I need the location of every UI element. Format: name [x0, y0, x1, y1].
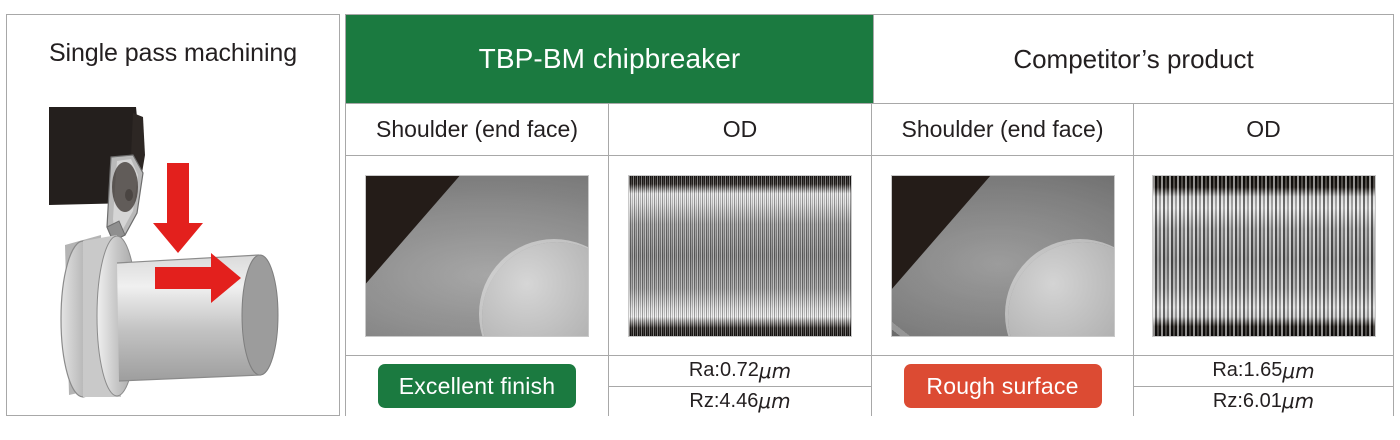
photo-cell-competitor-shoulder [872, 156, 1134, 355]
measurement-value: 4.46 [719, 390, 758, 413]
measurement-symbol: Rz [1213, 390, 1237, 413]
od-fine-turned-surface-micrograph [628, 175, 852, 337]
measurement-unit: μm [759, 359, 791, 383]
column-header-competitor-od: OD [1134, 104, 1393, 155]
column-header-tbp-shoulder: Shoulder (end face) [346, 104, 609, 155]
result-cell-tbp-od: Ra : 0.72 μm Rz : 4.46 μm [609, 356, 872, 416]
photo-cell-competitor-od [1134, 156, 1393, 355]
measurement-symbol: Ra [689, 359, 715, 382]
workpiece-icon [61, 235, 278, 397]
result-cell-competitor-shoulder: Rough surface [872, 356, 1134, 416]
down-arrow-icon [153, 163, 203, 253]
measurement-tbp-ra: Ra : 0.72 μm [609, 356, 871, 386]
photo-cell-tbp-od [609, 156, 872, 355]
status-badge-excellent-finish: Excellent finish [378, 364, 576, 408]
column-header-tbp-od: OD [609, 104, 872, 155]
measurement-value: 0.72 [720, 359, 759, 382]
single-pass-turning-diagram [21, 95, 327, 407]
result-cell-competitor-od: Ra : 1.65 μm Rz : 6.01 μm [1134, 356, 1393, 416]
result-cell-tbp-shoulder: Excellent finish [346, 356, 609, 416]
table-group-header-row: TBP-BM chipbreaker Competitor’s product [346, 15, 1393, 103]
photo-cell-tbp-shoulder [346, 156, 609, 355]
table-result-row: Excellent finish Ra : 0.72 μm Rz : 4.46 … [346, 355, 1393, 416]
od-rough-turned-surface-micrograph [1152, 175, 1376, 337]
group-header-tbp-bm: TBP-BM chipbreaker [346, 15, 873, 103]
column-header-competitor-shoulder: Shoulder (end face) [872, 104, 1134, 155]
page-title: Single pass machining [7, 39, 339, 68]
shoulder-fine-finish-micrograph [365, 175, 589, 337]
measurement-unit: μm [758, 389, 790, 413]
status-badge-rough-surface: Rough surface [904, 364, 1102, 408]
measurement-symbol: Rz [689, 390, 713, 413]
table-photo-row [346, 155, 1393, 355]
shoulder-rough-torn-micrograph [891, 175, 1115, 337]
measurement-competitor-rz: Rz : 6.01 μm [1134, 386, 1393, 417]
measurement-unit: μm [1282, 359, 1314, 383]
single-pass-machining-panel: Single pass machining [6, 14, 340, 416]
measurement-unit: μm [1282, 389, 1314, 413]
measurement-competitor-ra: Ra : 1.65 μm [1134, 356, 1393, 386]
table-column-header-row: Shoulder (end face) OD Shoulder (end fac… [346, 103, 1393, 155]
measurement-symbol: Ra [1212, 359, 1238, 382]
measurement-value: 1.65 [1243, 359, 1282, 382]
comparison-figure: Single pass machining [0, 0, 1400, 440]
measurement-tbp-rz: Rz : 4.46 μm [609, 386, 871, 417]
measurement-value: 6.01 [1243, 390, 1282, 413]
comparison-table: TBP-BM chipbreaker Competitor’s product … [345, 14, 1394, 416]
group-header-competitor: Competitor’s product [873, 15, 1393, 103]
